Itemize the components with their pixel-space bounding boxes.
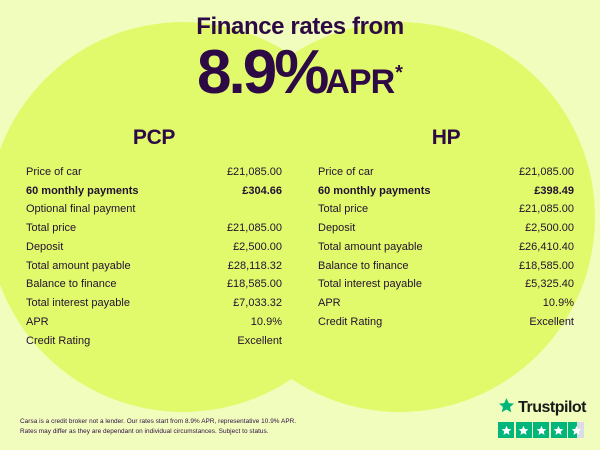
row-value: 10.9% bbox=[543, 297, 574, 309]
finance-table-hp: HP Price of car£21,085.0060 monthly paym… bbox=[300, 126, 592, 350]
row-value: Excellent bbox=[237, 335, 282, 347]
headline-rate: 8.9% APR * bbox=[0, 42, 600, 104]
rate-unit: APR bbox=[325, 65, 394, 99]
row-value: £21,085.00 bbox=[519, 166, 574, 178]
finance-table-pcp: PCP Price of car£21,085.0060 monthly pay… bbox=[8, 126, 300, 350]
row-label: Price of car bbox=[26, 166, 82, 178]
row-label: Credit Rating bbox=[318, 316, 382, 328]
table-row: APR10.9% bbox=[26, 313, 282, 332]
table-row: 60 monthly payments£304.66 bbox=[26, 181, 282, 200]
table-row: Price of car£21,085.00 bbox=[318, 162, 574, 181]
table-row: 60 monthly payments£398.49 bbox=[318, 181, 574, 200]
row-label: Credit Rating bbox=[26, 335, 90, 347]
row-label: Total amount payable bbox=[318, 241, 423, 253]
row-label: APR bbox=[318, 297, 341, 309]
table-row: Total interest payable£5,325.40 bbox=[318, 275, 574, 294]
table-row: Price of car£21,085.00 bbox=[26, 162, 282, 181]
trustpilot-rating-stars bbox=[498, 422, 584, 438]
table-row: Total price£21,085.00 bbox=[26, 219, 282, 238]
finance-tables: PCP Price of car£21,085.0060 monthly pay… bbox=[0, 126, 600, 350]
row-label: Total amount payable bbox=[26, 260, 131, 272]
disclaimer-text: Carsa is a credit broker not a lender. O… bbox=[20, 417, 296, 438]
row-value: Excellent bbox=[529, 316, 574, 328]
row-value: £2,500.00 bbox=[233, 241, 282, 253]
row-value: £21,085.00 bbox=[227, 222, 282, 234]
trustpilot-star-icon bbox=[498, 397, 515, 419]
trustpilot-star-icon bbox=[533, 422, 549, 438]
table-row: Total price£21,085.00 bbox=[318, 200, 574, 219]
row-value: £5,325.40 bbox=[525, 278, 574, 290]
table-row: Total amount payable£28,118.32 bbox=[26, 256, 282, 275]
table-row: Balance to finance£18,585.00 bbox=[26, 275, 282, 294]
row-label: Balance to finance bbox=[318, 260, 409, 272]
asterisk-mark: * bbox=[395, 63, 403, 83]
trustpilot-label: Trustpilot bbox=[518, 399, 586, 417]
row-label: Balance to finance bbox=[26, 278, 117, 290]
disclaimer-line-1: Carsa is a credit broker not a lender. O… bbox=[20, 417, 296, 428]
row-label: Price of car bbox=[318, 166, 374, 178]
footer: Carsa is a credit broker not a lender. O… bbox=[0, 397, 600, 450]
row-label: APR bbox=[26, 316, 49, 328]
row-label: Total interest payable bbox=[26, 297, 130, 309]
row-label: 60 monthly payments bbox=[318, 185, 430, 197]
row-value: £304.66 bbox=[242, 185, 282, 197]
table-row: APR10.9% bbox=[318, 294, 574, 313]
header: Finance rates from 8.9% APR * bbox=[0, 0, 600, 104]
row-label: Total price bbox=[318, 203, 368, 215]
row-value: £18,585.00 bbox=[227, 278, 282, 290]
table-rows-pcp: Price of car£21,085.0060 monthly payment… bbox=[18, 162, 290, 350]
table-row: Deposit£2,500.00 bbox=[26, 238, 282, 257]
row-label: Total price bbox=[26, 222, 76, 234]
trustpilot-star-icon bbox=[498, 422, 514, 438]
trustpilot-star-icon bbox=[551, 422, 567, 438]
row-value: £21,085.00 bbox=[519, 203, 574, 215]
rate-value: 8.9% bbox=[197, 42, 326, 104]
table-heading-pcp: PCP bbox=[18, 126, 290, 150]
table-row: Optional final payment bbox=[26, 200, 282, 219]
disclaimer-line-2: Rates may differ as they are dependant o… bbox=[20, 427, 296, 438]
row-value: 10.9% bbox=[251, 316, 282, 328]
row-label: Deposit bbox=[318, 222, 355, 234]
row-label: Deposit bbox=[26, 241, 63, 253]
row-label: Optional final payment bbox=[26, 203, 135, 215]
row-value: £28,118.32 bbox=[228, 260, 282, 272]
row-value: £26,410.40 bbox=[519, 241, 574, 253]
table-row: Credit RatingExcellent bbox=[318, 313, 574, 332]
table-row: Total interest payable£7,033.32 bbox=[26, 294, 282, 313]
row-value: £18,585.00 bbox=[519, 260, 574, 272]
row-label: 60 monthly payments bbox=[26, 185, 138, 197]
table-row: Deposit£2,500.00 bbox=[318, 219, 574, 238]
table-row: Total amount payable£26,410.40 bbox=[318, 238, 574, 257]
row-value: £2,500.00 bbox=[525, 222, 574, 234]
trustpilot-star-icon bbox=[568, 422, 584, 438]
table-row: Balance to finance£18,585.00 bbox=[318, 256, 574, 275]
page-title: Finance rates from bbox=[0, 14, 600, 40]
trustpilot-brand: Trustpilot bbox=[498, 397, 586, 419]
row-label: Total interest payable bbox=[318, 278, 422, 290]
promo-card: Finance rates from 8.9% APR * PCP Price … bbox=[0, 0, 600, 450]
row-value: £21,085.00 bbox=[227, 166, 282, 178]
row-value: £398.49 bbox=[534, 185, 574, 197]
table-row: Credit RatingExcellent bbox=[26, 331, 282, 350]
row-value: £7,033.32 bbox=[233, 297, 282, 309]
trustpilot-star-icon bbox=[516, 422, 532, 438]
table-heading-hp: HP bbox=[310, 126, 582, 150]
trustpilot-widget[interactable]: Trustpilot bbox=[498, 397, 586, 438]
table-rows-hp: Price of car£21,085.0060 monthly payment… bbox=[310, 162, 582, 331]
